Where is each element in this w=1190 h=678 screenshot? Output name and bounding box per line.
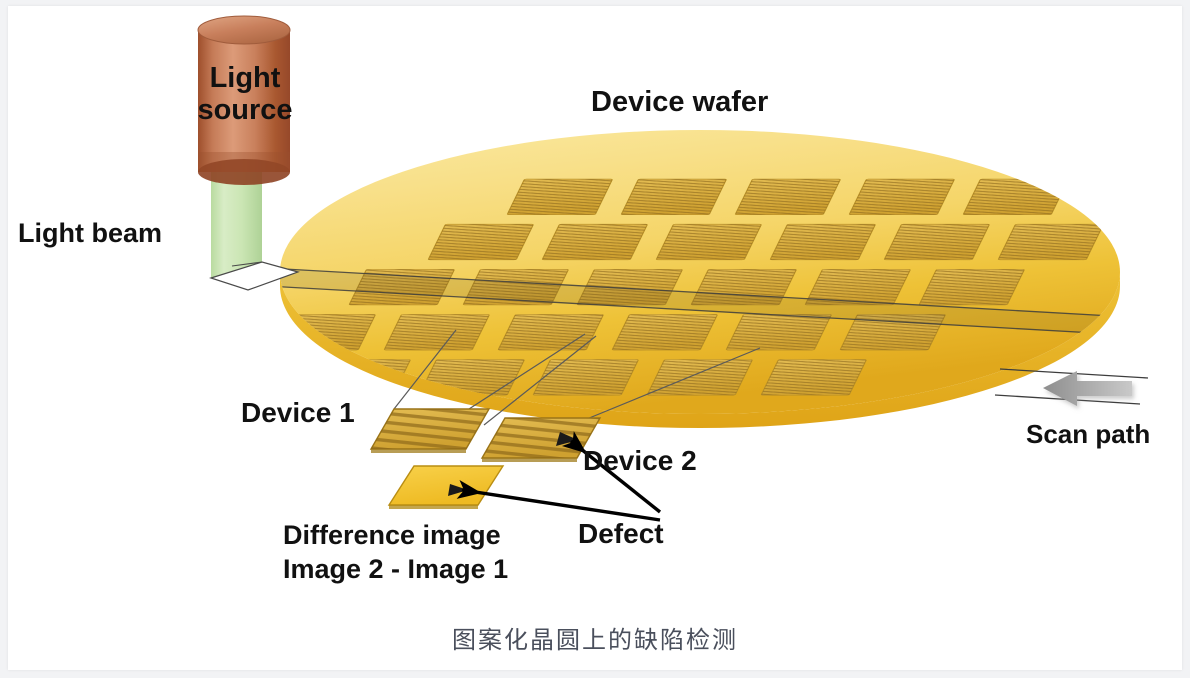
label-defect: Defect bbox=[578, 518, 664, 549]
label-difference-image: Difference image Image 2 - Image 1 bbox=[283, 519, 508, 587]
label-device-1: Device 1 bbox=[241, 397, 355, 428]
die-row bbox=[507, 179, 1068, 215]
light-beam-column bbox=[211, 168, 298, 290]
diagram-page: Light source Light beam Device wafer Dev… bbox=[0, 0, 1190, 678]
callout-difference-image bbox=[389, 466, 503, 509]
defect-arrow-difference bbox=[462, 490, 660, 520]
label-scan-path: Scan path bbox=[1026, 420, 1150, 449]
label-device-wafer: Device wafer bbox=[591, 86, 768, 118]
figure-caption: 图案化晶圆上的缺陷检测 bbox=[0, 620, 1190, 655]
wafer bbox=[232, 130, 1148, 428]
label-device-2: Device 2 bbox=[583, 445, 697, 476]
label-light-beam: Light beam bbox=[18, 218, 162, 248]
label-light-source: Light source bbox=[190, 62, 300, 127]
callout-device-1 bbox=[371, 409, 489, 453]
